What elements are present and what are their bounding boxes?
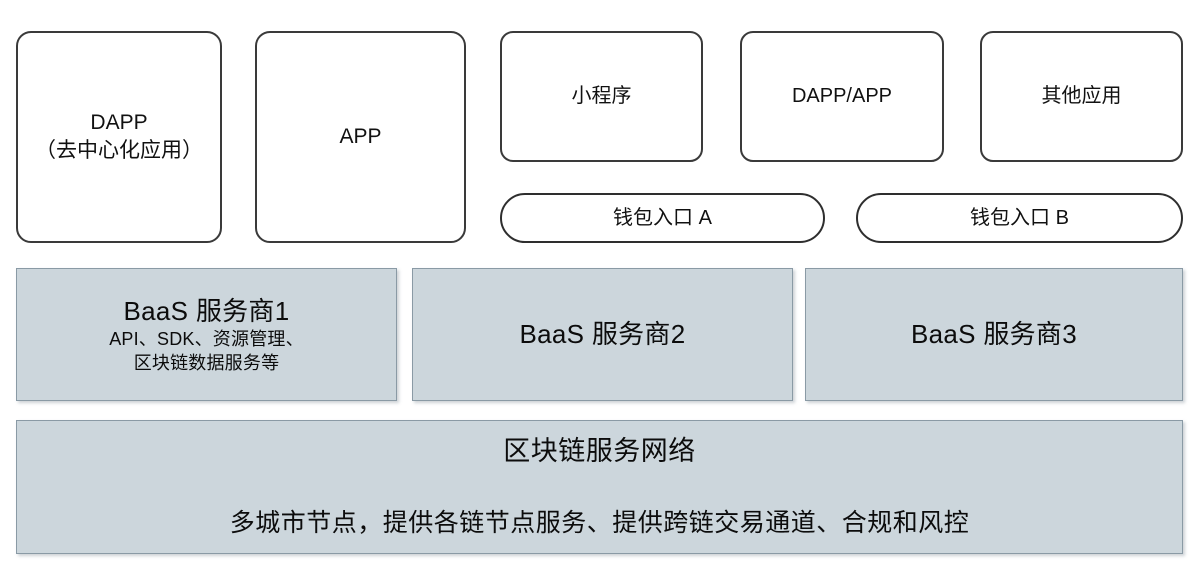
dapp-card-subtitle: （去中心化应用） xyxy=(35,137,203,165)
wallet-entry-a[interactable]: 钱包入口 A xyxy=(500,193,825,243)
blockchain-service-network[interactable]: 区块链服务网络 多城市节点，提供各链节点服务、提供跨链交易通道、合规和风控 xyxy=(16,420,1183,554)
network-subtitle: 多城市节点，提供各链节点服务、提供跨链交易通道、合规和风控 xyxy=(230,507,970,540)
app-card[interactable]: APP xyxy=(255,31,466,243)
baas-provider-1-detail-2: 区块链数据服务等 xyxy=(134,352,280,376)
baas-provider-2[interactable]: BaaS 服务商2 xyxy=(412,268,793,401)
miniprogram-card-title: 小程序 xyxy=(572,83,632,109)
other-apps-card[interactable]: 其他应用 xyxy=(980,31,1183,162)
baas-provider-1-title: BaaS 服务商1 xyxy=(124,294,290,328)
wallet-entry-b-label: 钱包入口 B xyxy=(970,205,1069,231)
dapp-app-card[interactable]: DAPP/APP xyxy=(740,31,944,162)
wallet-entry-b[interactable]: 钱包入口 B xyxy=(856,193,1183,243)
app-card-title: APP xyxy=(339,123,381,151)
wallet-entry-a-label: 钱包入口 A xyxy=(613,205,712,231)
baas-provider-2-title: BaaS 服务商2 xyxy=(520,317,686,351)
baas-provider-3-title: BaaS 服务商3 xyxy=(911,317,1077,351)
baas-provider-3[interactable]: BaaS 服务商3 xyxy=(805,268,1183,401)
network-title: 区块链服务网络 xyxy=(503,434,696,470)
dapp-card-title: DAPP xyxy=(90,109,147,137)
architecture-diagram: DAPP （去中心化应用） APP 小程序 DAPP/APP 其他应用 钱包入口… xyxy=(0,0,1200,587)
dapp-card[interactable]: DAPP （去中心化应用） xyxy=(16,31,222,243)
dapp-app-card-title: DAPP/APP xyxy=(792,83,892,109)
miniprogram-card[interactable]: 小程序 xyxy=(500,31,703,162)
baas-provider-1-detail-1: API、SDK、资源管理、 xyxy=(109,328,304,352)
baas-provider-1[interactable]: BaaS 服务商1 API、SDK、资源管理、 区块链数据服务等 xyxy=(16,268,397,401)
other-apps-card-title: 其他应用 xyxy=(1042,83,1122,109)
